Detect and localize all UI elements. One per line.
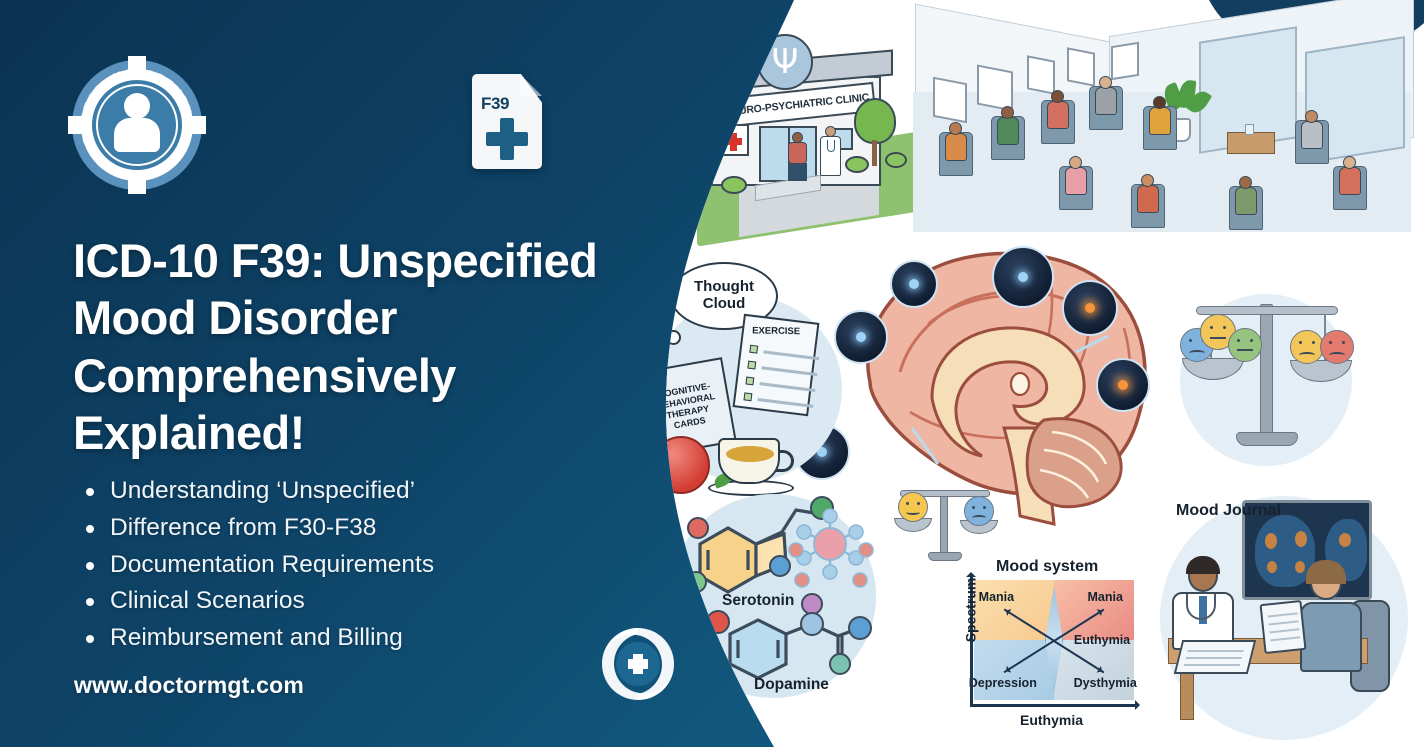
tree-trunk bbox=[872, 140, 877, 166]
dopamine-label: Dopamine bbox=[754, 676, 829, 694]
clinic-tree bbox=[854, 98, 896, 144]
mood-journal-notepad bbox=[1260, 600, 1307, 654]
chart-label-euthymia-2: Euthymia bbox=[1074, 633, 1130, 647]
wall-poster-4 bbox=[1067, 47, 1095, 86]
mood-balance-scale-small bbox=[886, 478, 1004, 574]
chart-x-axis bbox=[970, 704, 1138, 707]
neutral-face-icon-green bbox=[1228, 328, 1262, 362]
wall-poster-3 bbox=[1027, 55, 1055, 94]
illustration-panel: Ψ NEURO-PSYCHIATRIC CLINIC bbox=[634, 0, 1424, 747]
f39-document-icon: F39 bbox=[472, 74, 542, 169]
cbt-tools-illustration: Thought Cloud EXERCISE COGNITIVE-BEHAVIO… bbox=[642, 260, 852, 500]
clinic-bush-3 bbox=[885, 152, 907, 168]
neuro-psychiatric-clinic: Ψ NEURO-PSYCHIATRIC CLINIC bbox=[689, 28, 939, 233]
red-cross-icon bbox=[717, 124, 749, 156]
topic-bullet-5: Reimbursement and Billing bbox=[82, 622, 642, 655]
chart-x-axis-label: Euthymia bbox=[1020, 712, 1083, 728]
mood-journal-label: Mood Journal bbox=[1176, 502, 1281, 520]
exercise-checklist-title: EXERCISE bbox=[752, 325, 800, 337]
document-code-label: F39 bbox=[481, 94, 509, 114]
chart-plot-area: ManiaManiaEuthymiaDepressionDysthymia bbox=[974, 580, 1134, 700]
chart-y-axis-label: Spectrum bbox=[962, 578, 978, 643]
website-url[interactable]: www.doctormgt.com bbox=[74, 672, 304, 699]
thought-cloud-label: Thought Cloud bbox=[672, 279, 776, 313]
exercise-checklist: EXERCISE bbox=[733, 314, 820, 417]
medical-cross-icon-v bbox=[500, 118, 514, 160]
neuron-callout-5 bbox=[1096, 358, 1150, 412]
happy-face-icon bbox=[898, 492, 928, 522]
wall-poster-1 bbox=[933, 77, 967, 124]
topic-bullet-1: Understanding ‘Unspecified’ bbox=[82, 475, 642, 508]
mood-system-chart: Mood system ManiaManiaEuthymiaDepression… bbox=[934, 556, 1154, 742]
patient-body-journal bbox=[1300, 602, 1362, 672]
chart-label-dysthymia-4: Dysthymia bbox=[1074, 676, 1137, 690]
tea-cup-icon bbox=[718, 438, 780, 484]
group-therapy-session bbox=[909, 6, 1424, 238]
brand-logo[interactable]: DOCTOR MANAGEMENT SERVICES bbox=[72, 60, 202, 190]
patient-skirt bbox=[788, 163, 807, 181]
wall-poster-2 bbox=[977, 65, 1013, 112]
logo-arc-text-bottom: SERVICES bbox=[72, 60, 202, 190]
patient-hair bbox=[1306, 560, 1346, 584]
chart-label-depression-3: Depression bbox=[969, 676, 1037, 690]
stethoscope-icon bbox=[827, 140, 835, 152]
topic-bullet-2: Difference from F30-F38 bbox=[82, 512, 642, 545]
side-table bbox=[1227, 132, 1275, 154]
chart-title: Mood system bbox=[996, 558, 1098, 576]
mood-journal-scene: Mood Journal bbox=[1150, 490, 1420, 740]
banner-root: DOCTOR MANAGEMENT SERVICES F39 ICD-10 F3… bbox=[0, 0, 1424, 747]
sad-face-icon bbox=[964, 496, 994, 526]
clinic-bush-2 bbox=[845, 156, 869, 173]
patient-body bbox=[788, 142, 807, 164]
chart-label-mania-0: Mania bbox=[979, 590, 1014, 604]
psi-symbol-sign: Ψ bbox=[757, 34, 813, 90]
clipboard-document bbox=[1174, 640, 1256, 674]
document-fold-corner bbox=[520, 74, 542, 96]
chart-label-mania-1: Mania bbox=[1087, 590, 1122, 604]
psi-glyph: Ψ bbox=[772, 45, 799, 79]
medical-swirl-cross-icon bbox=[598, 624, 678, 704]
serotonin-label: Serotonin bbox=[722, 592, 794, 610]
topic-bullet-3: Documentation Requirements bbox=[82, 549, 642, 582]
patient-head bbox=[792, 132, 803, 143]
angry-face-icon-red bbox=[1320, 330, 1354, 364]
clinic-doctor-head bbox=[825, 126, 836, 137]
neuron-callout-2 bbox=[890, 260, 938, 308]
topic-bullet-list: Understanding ‘Unspecified’Difference fr… bbox=[82, 475, 642, 659]
clinic-bush-1 bbox=[721, 176, 747, 194]
mood-balance-scale-large bbox=[1174, 280, 1360, 490]
neurotransmitter-molecules: Serotonin Dopamine bbox=[654, 488, 884, 728]
clinic-sign-text: NEURO-PSYCHIATRIC CLINIC bbox=[724, 91, 869, 118]
page-title: ICD-10 F39: Unspecified Mood Disorder Co… bbox=[73, 232, 673, 461]
topic-bullet-4: Clinical Scenarios bbox=[82, 585, 642, 618]
angry-face-icon-yellow bbox=[1290, 330, 1324, 364]
neuron-callout-3 bbox=[992, 246, 1054, 308]
wall-poster-5 bbox=[1111, 42, 1139, 80]
water-glass bbox=[1245, 124, 1254, 135]
neuron-callout-4 bbox=[1062, 280, 1118, 336]
